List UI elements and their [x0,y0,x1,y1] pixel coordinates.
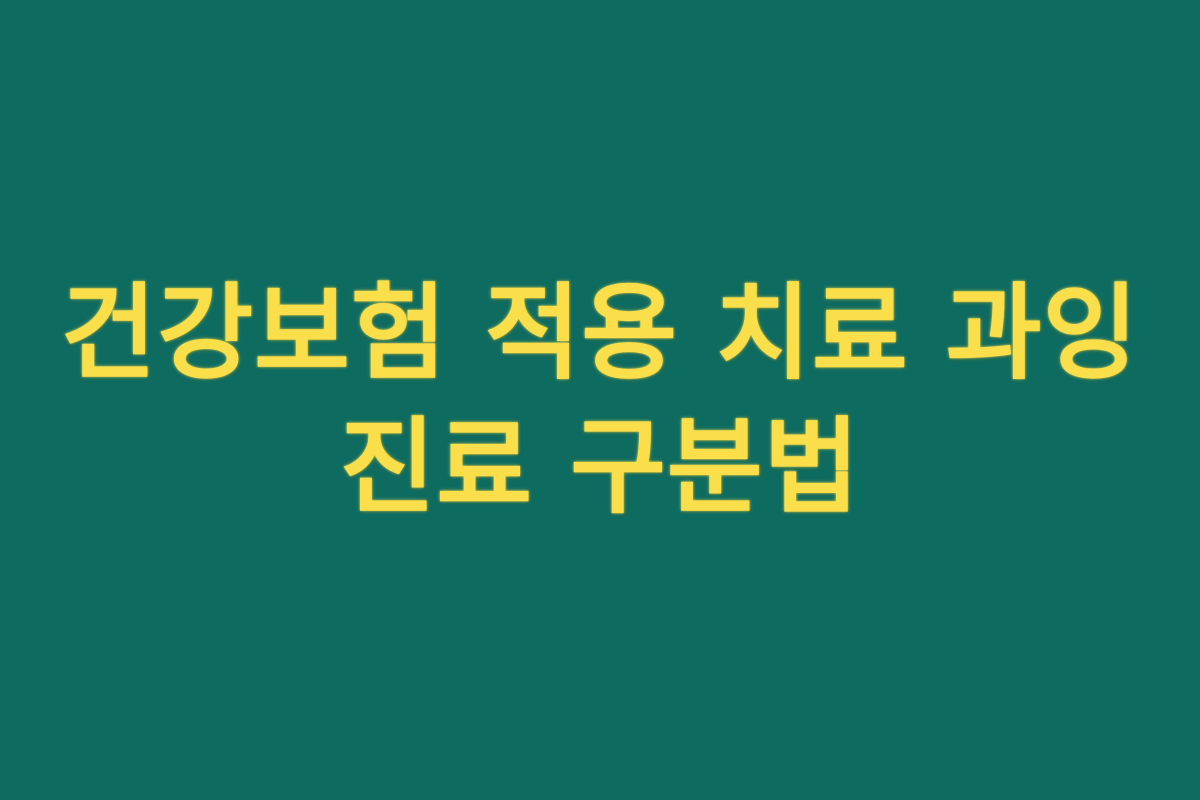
page-title: 건강보험 적용 치료 과잉 진료 구분법 [40,266,1160,534]
title-line-1: 건강보험 적용 치료 과잉 [40,266,1160,400]
title-line-2: 진료 구분법 [40,400,1160,534]
title-banner: 건강보험 적용 치료 과잉 진료 구분법 [0,0,1200,800]
